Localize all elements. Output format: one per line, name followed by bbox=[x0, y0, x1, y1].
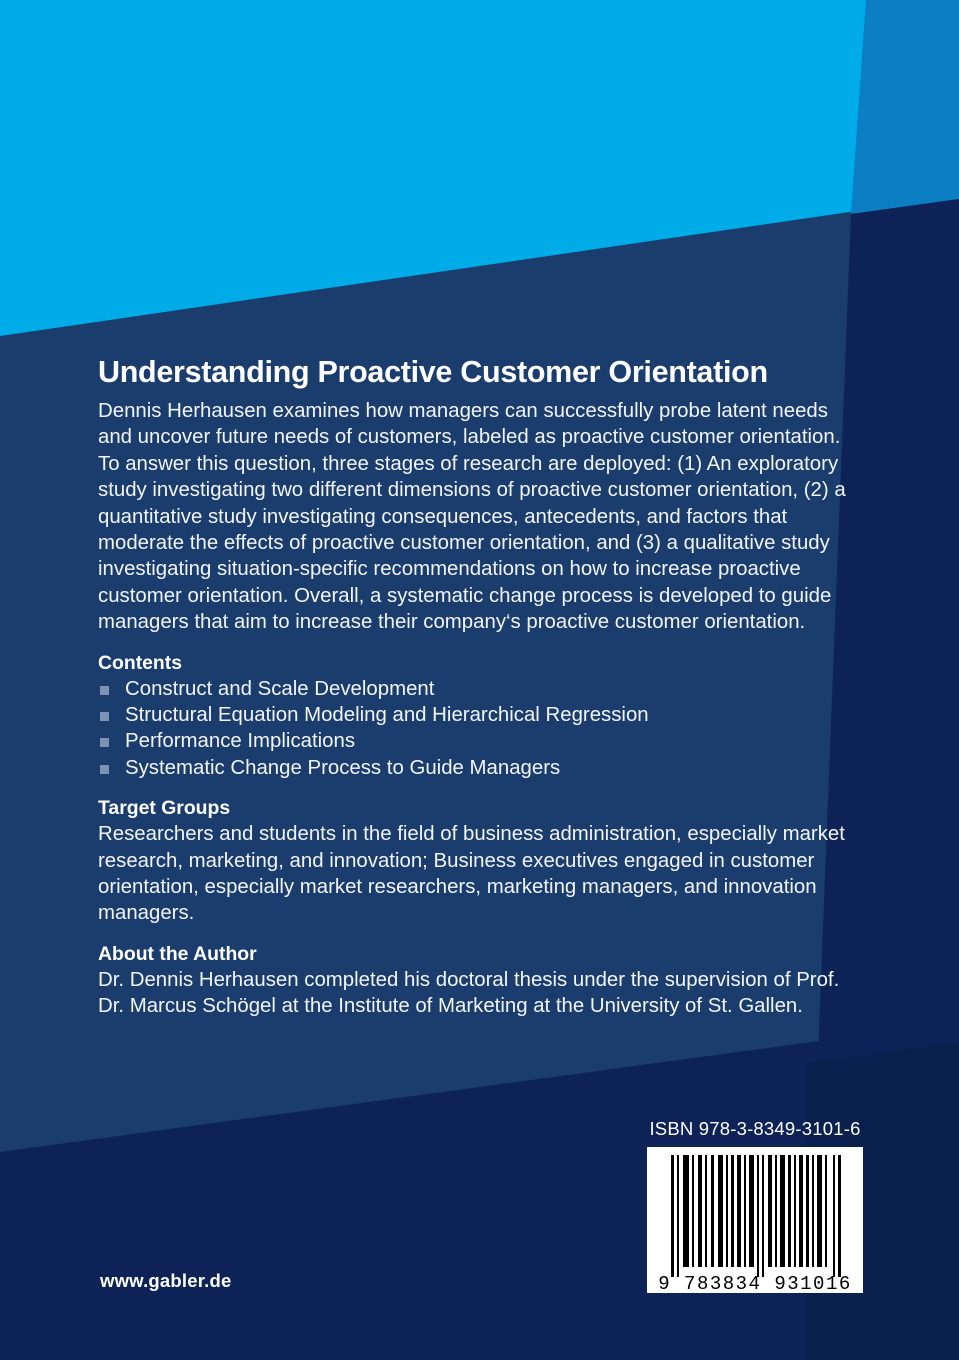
list-item: Performance Implications bbox=[98, 728, 858, 754]
list-item: Systematic Change Process to Guide Manag… bbox=[98, 755, 858, 781]
list-item: Construct and Scale Development bbox=[98, 676, 858, 702]
square-bullet-icon bbox=[100, 712, 109, 721]
list-item-label: Systematic Change Process to Guide Manag… bbox=[125, 757, 560, 779]
list-item-label: Construct and Scale Development bbox=[125, 678, 434, 700]
about-author-heading: About the Author bbox=[98, 941, 858, 967]
cyan-right-wedge bbox=[851, 0, 959, 214]
barcode-bars-icon: 9 783834 931016 bbox=[647, 1147, 863, 1293]
cover-content: Understanding Proactive Customer Orienta… bbox=[98, 356, 858, 1020]
isbn-label: ISBN 978-3-8349-3101-6 bbox=[647, 1118, 863, 1140]
target-groups-paragraph: Researchers and students in the field of… bbox=[98, 821, 858, 927]
square-bullet-icon bbox=[100, 765, 109, 774]
list-item: Structural Equation Modeling and Hierarc… bbox=[98, 702, 858, 728]
book-back-cover: Understanding Proactive Customer Orienta… bbox=[0, 0, 959, 1360]
list-item-label: Structural Equation Modeling and Hierarc… bbox=[125, 704, 649, 726]
publisher-url[interactable]: www.gabler.de bbox=[100, 1270, 231, 1292]
square-bullet-icon bbox=[100, 738, 109, 747]
target-groups-heading: Target Groups bbox=[98, 795, 858, 821]
contents-heading: Contents bbox=[98, 650, 858, 676]
list-item-label: Performance Implications bbox=[125, 730, 355, 752]
barcode-digits: 9 783834 931016 bbox=[658, 1273, 852, 1293]
description-paragraph: Dennis Herhausen examines how managers c… bbox=[98, 398, 858, 636]
isbn-block: ISBN 978-3-8349-3101-6 bbox=[647, 1118, 863, 1293]
page-title: Understanding Proactive Customer Orienta… bbox=[98, 356, 858, 389]
contents-list: Construct and Scale Development Structur… bbox=[98, 676, 858, 782]
about-author-paragraph: Dr. Dennis Herhausen completed his docto… bbox=[98, 967, 858, 1020]
barcode: 9 783834 931016 bbox=[647, 1147, 863, 1293]
square-bullet-icon bbox=[100, 686, 109, 695]
